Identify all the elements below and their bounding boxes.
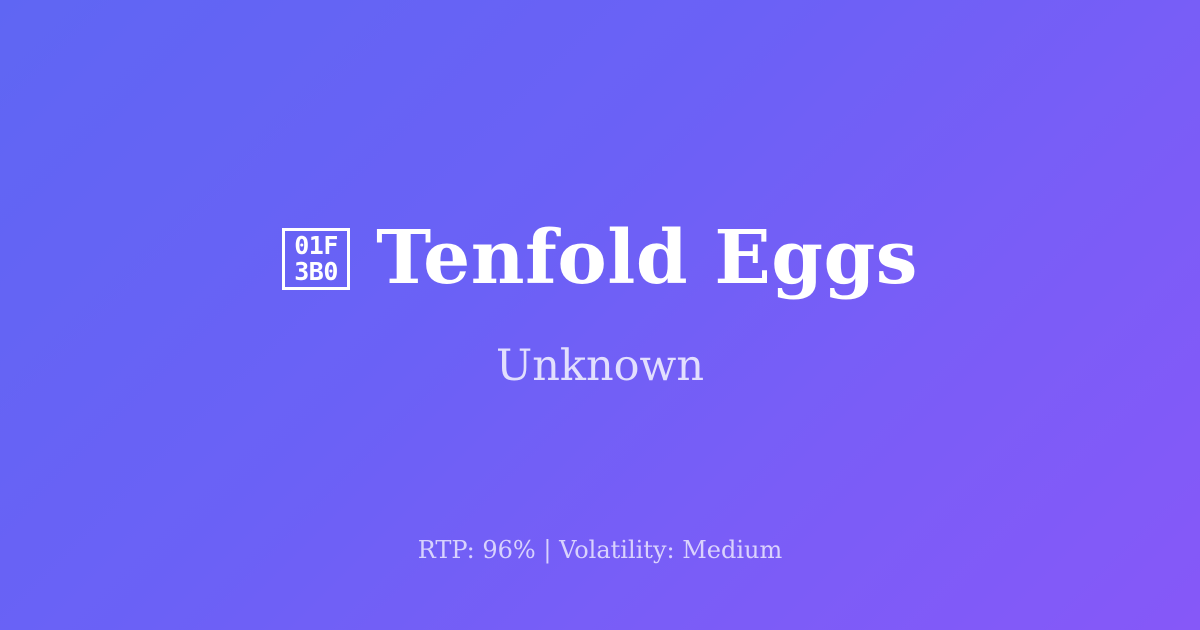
hero-block: 01F 3B0 Tenfold Eggs Unknown <box>60 219 1140 392</box>
game-meta-line: RTP: 96% | Volatility: Medium <box>0 536 1200 565</box>
title-row: 01F 3B0 Tenfold Eggs <box>60 219 1140 297</box>
game-title: Tenfold Eggs <box>376 219 918 297</box>
tofu-codepoint-row-top: 01F <box>294 233 338 259</box>
game-provider-subtitle: Unknown <box>496 341 704 393</box>
slot-machine-emoji-tofu-icon: 01F 3B0 <box>282 228 350 290</box>
tofu-codepoint-row-bottom: 3B0 <box>294 259 338 285</box>
game-preview-card: 01F 3B0 Tenfold Eggs Unknown RTP: 96% | … <box>0 0 1200 630</box>
